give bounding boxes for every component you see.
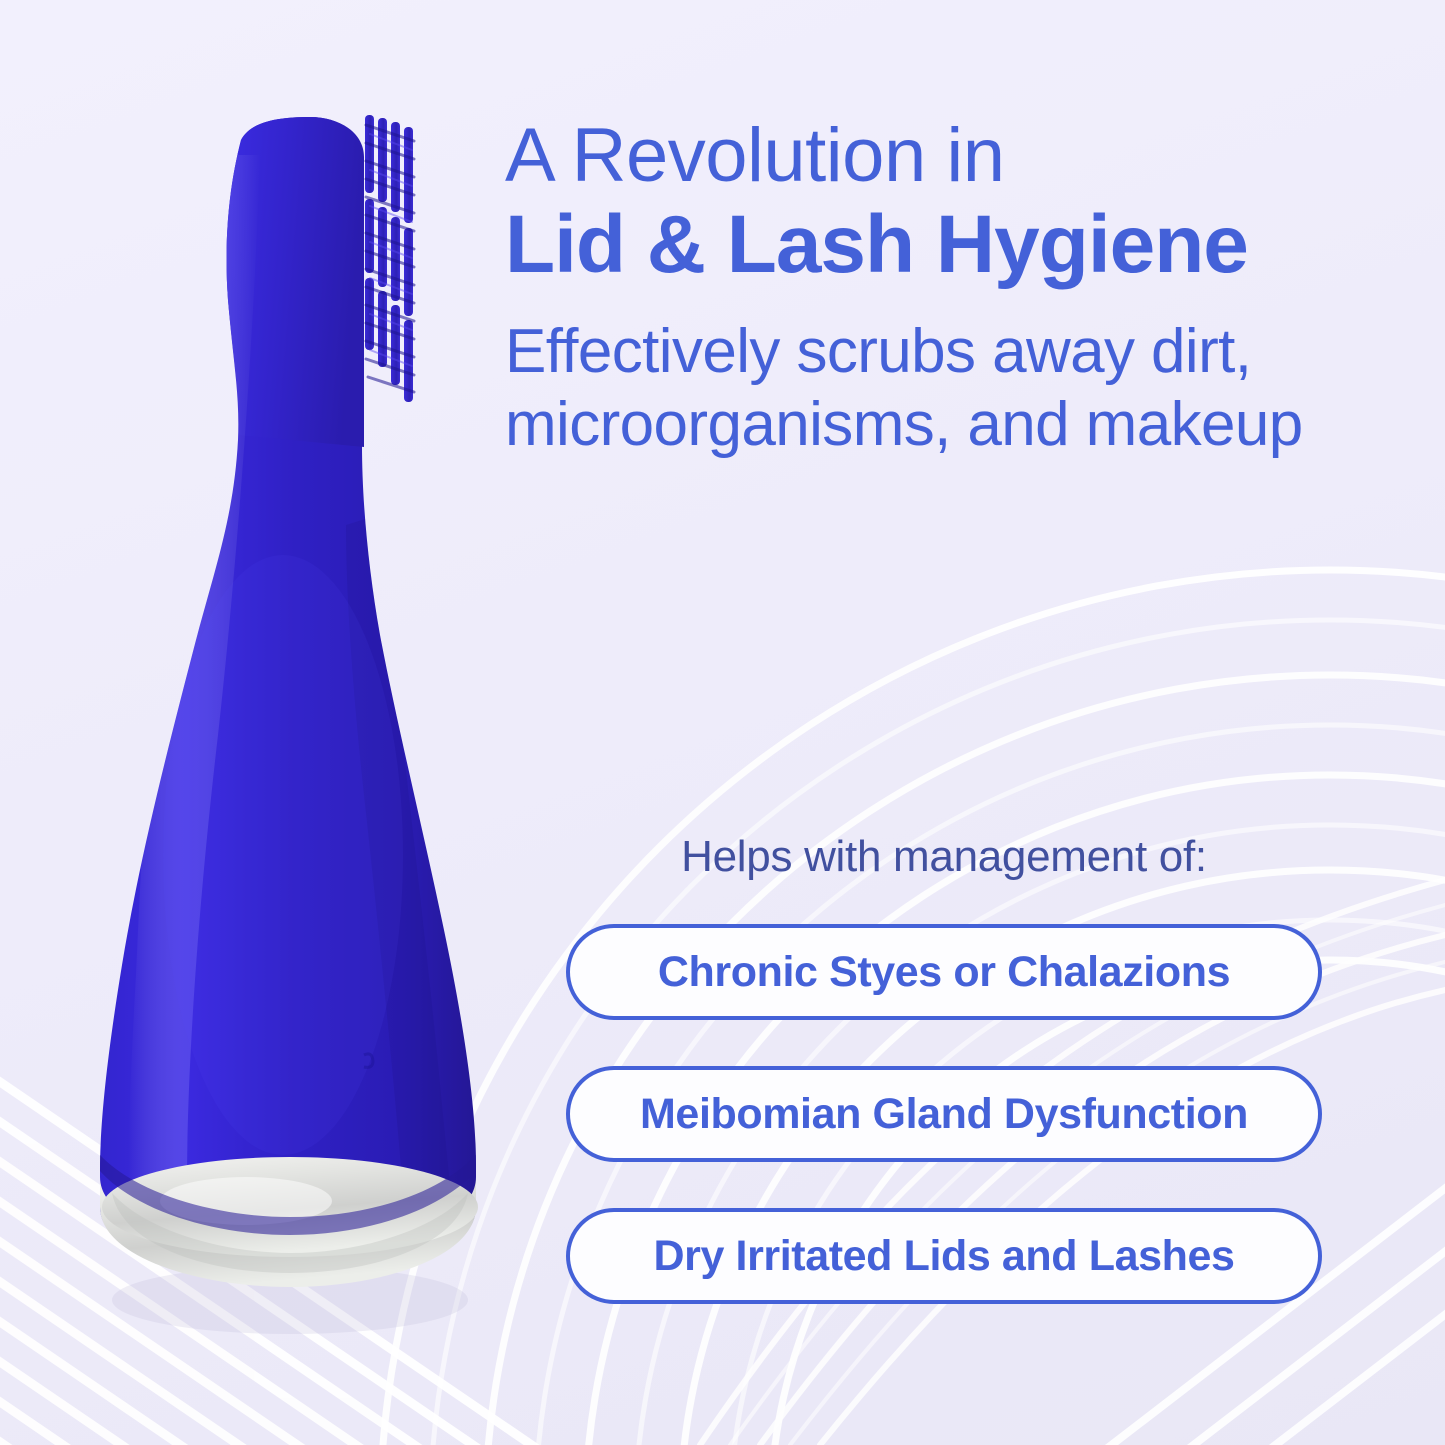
text-column: A Revolution in Lid & Lash Hygiene Effec… (505, 118, 1385, 462)
benefit-pill-chronic-styes[interactable]: Chronic Styes or Chalazions (566, 924, 1322, 1020)
benefits-section: Helps with management of: Chronic Styes … (566, 832, 1322, 1304)
benefit-pill-dry-irritated-lids[interactable]: Dry Irritated Lids and Lashes (566, 1208, 1322, 1304)
headline-line-1: A Revolution in (505, 118, 1385, 194)
headline-line-2: Lid & Lash Hygiene (505, 202, 1385, 287)
benefit-pill-label: Chronic Styes or Chalazions (658, 948, 1230, 997)
product-image (78, 95, 498, 1365)
product-feature-card: A Revolution in Lid & Lash Hygiene Effec… (0, 0, 1445, 1445)
benefit-pill-label: Dry Irritated Lids and Lashes (653, 1232, 1234, 1281)
benefits-heading: Helps with management of: (566, 832, 1322, 882)
benefit-pill-label: Meibomian Gland Dysfunction (640, 1090, 1248, 1139)
subheadline: Effectively scrubs away dirt, microorgan… (505, 315, 1365, 461)
benefit-pill-meibomian-gland-dysfunction[interactable]: Meibomian Gland Dysfunction (566, 1066, 1322, 1162)
